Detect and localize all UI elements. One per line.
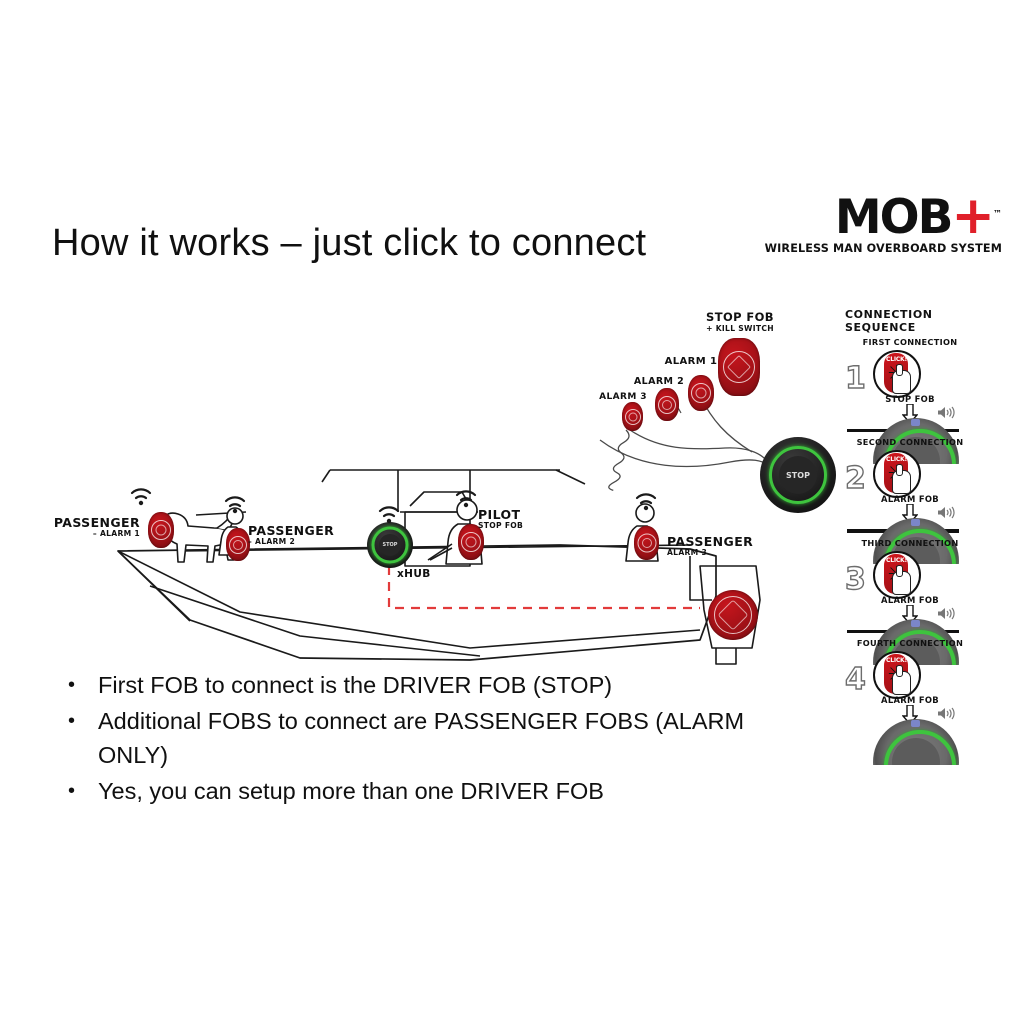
fob-click-icon: CLICK! — [873, 551, 921, 599]
fob-ring-inner — [466, 537, 477, 548]
fob-click-icon: CLICK! — [873, 350, 921, 398]
fob-on-passenger-3 — [634, 526, 659, 560]
hub-face: STOP — [379, 534, 401, 556]
slide-canvas: How it works – just click to connect MOB… — [0, 0, 1020, 1020]
list-item: • First FOB to connect is the DRIVER FOB… — [68, 668, 788, 702]
step-heading: FOURTH CONNECTION — [845, 638, 975, 648]
hub-body — [873, 719, 959, 765]
fob-cluster-label-alarm-3: ALARM 3 — [592, 391, 654, 404]
wifi-icon-passenger-3 — [637, 494, 655, 510]
pointing-hand-icon — [892, 671, 911, 695]
sequence-step-2: SECOND CONNECTION 2 CLICK! ALARM FOB — [845, 437, 975, 532]
seq-title-line-2: SEQUENCE — [845, 321, 975, 334]
step-number: 3 — [845, 565, 866, 595]
fob-ring-inner — [662, 400, 672, 410]
sequence-step-1: FIRST CONNECTION 1 CLICK! STOP FOB — [845, 337, 975, 432]
fob-click-icon: CLICK! — [873, 450, 921, 498]
label-passenger-alarm-2: PASSENGER – ALARM 2 — [248, 524, 334, 546]
fob-click-icon: CLICK! — [873, 651, 921, 699]
fob-alarm-3 — [622, 402, 643, 431]
engine-kill-symbol — [708, 590, 758, 640]
hub-face: STOP — [779, 456, 817, 494]
bullet-marker-icon: • — [68, 668, 98, 702]
step-body: 3 CLICK! ALARM FOB — [845, 549, 975, 627]
brand-wordmark: MOB+™ — [764, 193, 1002, 241]
hub-led-indicator — [911, 519, 920, 526]
wifi-icon-passenger-2 — [226, 497, 244, 513]
xhub-label: xHUB — [397, 568, 431, 581]
label-passenger-alarm-3: PASSENGER ALARM 3 — [667, 535, 753, 557]
hub-device-xhub: STOP — [367, 522, 413, 568]
step-number: 1 — [845, 364, 866, 394]
bullet-text: Additional FOBS to connect are PASSENGER… — [98, 704, 788, 772]
wifi-icon-pilot — [457, 491, 475, 507]
hub-stop-text: STOP — [786, 471, 810, 480]
click-text: CLICK! — [886, 657, 907, 664]
click-text: CLICK! — [886, 557, 907, 564]
step-fob-label: ALARM FOB — [845, 695, 975, 705]
label-passenger-alarm-1: PASSENGER – ALARM 1 — [52, 516, 140, 538]
list-item: • Yes, you can setup more than one DRIVE… — [68, 774, 788, 808]
bullet-text: First FOB to connect is the DRIVER FOB (… — [98, 668, 612, 702]
bullet-marker-icon: • — [68, 704, 98, 738]
brand-name: MOB — [835, 190, 952, 245]
fob-ring-inner — [642, 538, 652, 548]
step-heading: FIRST CONNECTION — [845, 337, 975, 347]
step-body: 4 CLICK! ALARM FOB — [845, 649, 975, 727]
brand-logo: MOB+™ WIRELESS MAN OVERBOARD SYSTEM — [764, 193, 1002, 255]
step-heading: THIRD CONNECTION — [845, 538, 975, 548]
hub-top-arc — [873, 719, 959, 765]
fob-alarm-1 — [688, 375, 714, 411]
brand-tagline: WIRELESS MAN OVERBOARD SYSTEM — [764, 242, 1002, 255]
bullet-list: • First FOB to connect is the DRIVER FOB… — [68, 668, 788, 810]
pointing-hand-icon — [892, 470, 911, 494]
bullet-text: Yes, you can setup more than one DRIVER … — [98, 774, 604, 808]
fob-ring-inner — [233, 540, 243, 550]
step-fob-label: ALARM FOB — [845, 494, 975, 504]
fob-ring-inner — [696, 388, 707, 399]
pointing-hand-icon — [892, 370, 911, 394]
fob-cluster-label-stop-fob: STOP FOB + KILL SWITCH — [700, 311, 780, 333]
hub-device-large: STOP — [760, 437, 836, 513]
wifi-icon-xhub — [380, 507, 398, 523]
trademark-icon: ™ — [993, 209, 1002, 219]
click-text: CLICK! — [886, 456, 907, 463]
step-number: 2 — [845, 464, 866, 494]
step-heading: SECOND CONNECTION — [845, 437, 975, 447]
page-title: How it works – just click to connect — [52, 222, 646, 265]
list-item: • Additional FOBS to connect are PASSENG… — [68, 704, 788, 772]
click-text: CLICK! — [886, 356, 907, 363]
seq-title-line-1: CONNECTION — [845, 308, 975, 321]
wifi-icon-dog — [132, 489, 150, 505]
brand-plus: + — [951, 186, 993, 246]
hub-led-indicator — [911, 720, 920, 727]
fob-ring-inner — [156, 525, 167, 536]
step-number: 4 — [845, 665, 866, 695]
connection-sequence-title: CONNECTION SEQUENCE — [845, 308, 975, 334]
bullet-marker-icon: • — [68, 774, 98, 808]
fob-stop — [718, 338, 760, 396]
fob-alarm-2 — [655, 388, 679, 421]
fob-cluster-label-alarm-2: ALARM 2 — [628, 375, 690, 388]
step-body: 1 CLICK! STOP FOB — [845, 348, 975, 426]
fob-on-passenger-2 — [226, 528, 250, 561]
pointing-hand-icon — [892, 571, 911, 595]
sequence-step-3: THIRD CONNECTION 3 CLICK! ALARM FOB — [845, 538, 975, 633]
step-fob-label: ALARM FOB — [845, 595, 975, 605]
step-fob-label: STOP FOB — [845, 394, 975, 404]
hub-led-indicator — [911, 620, 920, 627]
fob-on-dog — [148, 512, 174, 548]
step-body: 2 CLICK! ALARM FOB — [845, 448, 975, 526]
sequence-step-4: FOURTH CONNECTION 4 CLICK! ALARM FOB — [845, 638, 975, 727]
connection-sequence-panel: CONNECTION SEQUENCE FIRST CONNECTION 1 C… — [845, 308, 975, 727]
label-pilot-stop-fob: PILOT STOP FOB — [478, 508, 523, 530]
hub-led-indicator — [911, 419, 920, 426]
hub-stop-text: STOP — [383, 542, 398, 548]
fob-cluster-label-alarm-1: ALARM 1 — [660, 355, 722, 368]
fob-ring-inner — [628, 412, 637, 421]
